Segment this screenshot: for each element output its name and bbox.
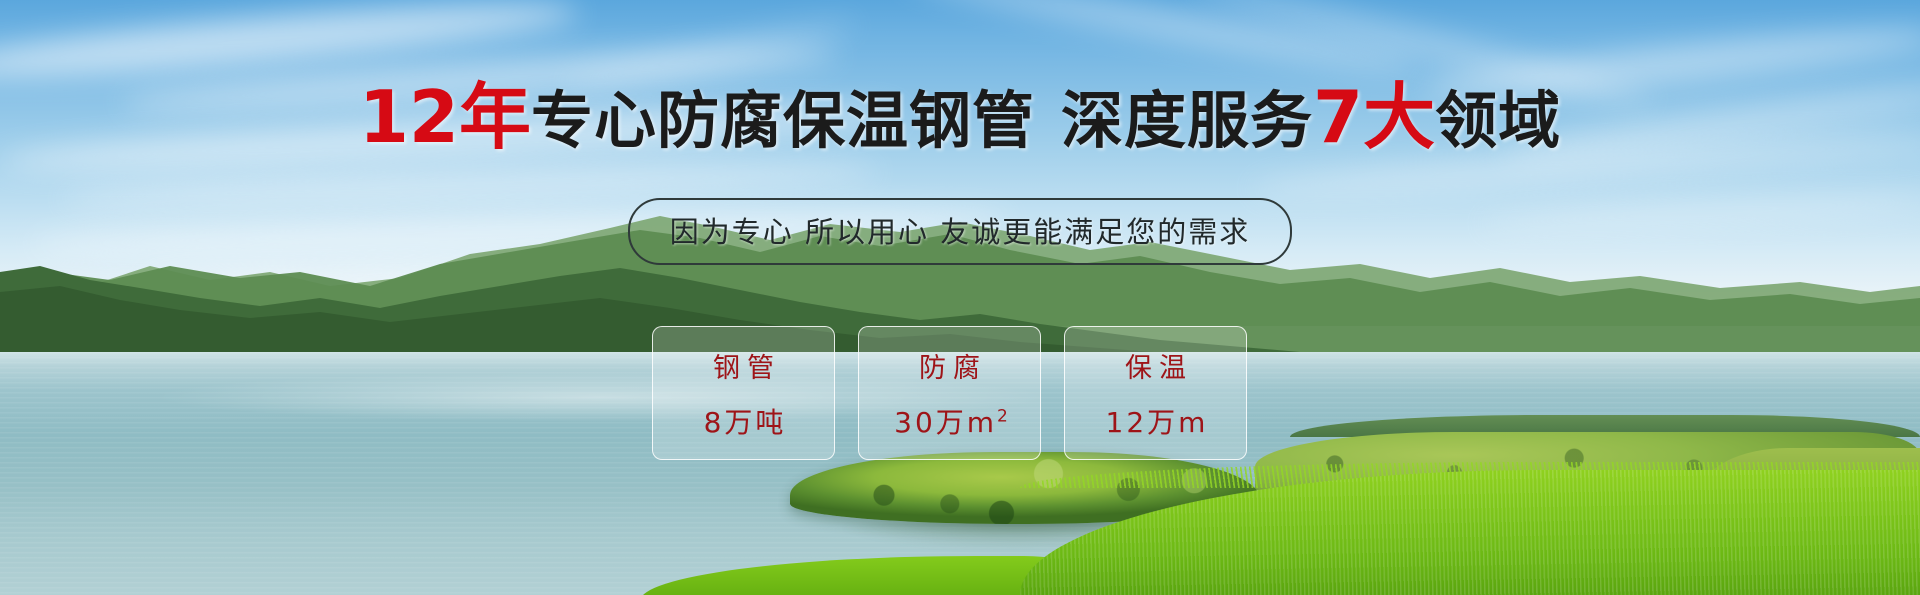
hero-banner: 12年专心防腐保温钢管深度服务7大领域 因为专心 所以用心 友诚更能满足您的需求… xyxy=(0,0,1920,595)
stat-card-value-text: 8万吨 xyxy=(704,406,787,439)
stat-card-label: 钢管 xyxy=(706,346,781,385)
stat-card-value: 30万m2 xyxy=(891,401,1008,441)
cloud-wisp xyxy=(561,13,859,95)
headline-highlight-years: 12年 xyxy=(359,75,531,159)
headline-text-primary: 专心防腐保温钢管 xyxy=(531,84,1035,157)
stat-card-value-text: 12万m xyxy=(1106,406,1209,439)
stat-card-label: 保温 xyxy=(1118,346,1193,385)
headline-highlight-fields: 7大 xyxy=(1313,75,1435,159)
headline-text-tertiary: 领域 xyxy=(1435,84,1561,157)
headline: 12年专心防腐保温钢管深度服务7大领域 xyxy=(0,86,1920,152)
stat-card-value: 8万吨 xyxy=(701,401,787,441)
cloud-wisp xyxy=(901,0,1418,83)
stat-card-value: 12万m xyxy=(1103,401,1209,441)
subtitle-pill: 因为专心 所以用心 友诚更能满足您的需求 xyxy=(628,198,1292,265)
stat-card-value-sup: 2 xyxy=(997,406,1008,426)
subtitle-container: 因为专心 所以用心 友诚更能满足您的需求 xyxy=(0,198,1920,265)
stat-cards: 钢管 8万吨 防腐 30万m2 保温 12万m xyxy=(652,326,1272,460)
stat-card-value-text: 30万m xyxy=(894,406,997,439)
headline-text-secondary: 深度服务 xyxy=(1061,84,1313,157)
stat-card-anticorrosion[interactable]: 防腐 30万m2 xyxy=(858,326,1041,460)
stat-card-label: 防腐 xyxy=(912,346,987,385)
stat-card-insulation[interactable]: 保温 12万m xyxy=(1064,326,1247,460)
stat-card-steel-pipe[interactable]: 钢管 8万吨 xyxy=(652,326,835,460)
